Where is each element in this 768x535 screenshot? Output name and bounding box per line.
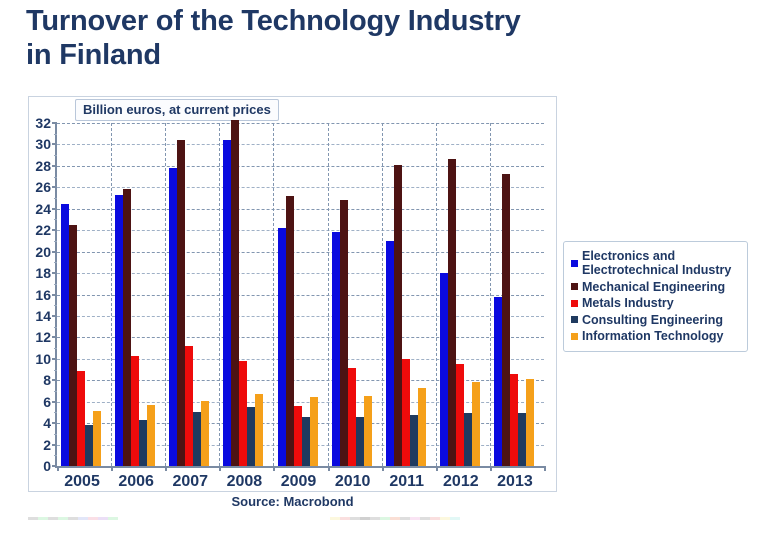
decorative-segment [360,517,370,520]
y-axis-tick-mark [52,229,57,231]
x-axis-tick-mark [382,466,384,471]
decorative-segment [28,517,38,520]
y-axis-tick-label: 32 [35,115,51,131]
legend-item-label: Metals Industry [582,296,674,310]
x-axis-tick-label: 2012 [443,473,479,491]
legend-swatch-icon [571,260,578,267]
x-axis-tick-mark [111,466,113,471]
bar[interactable] [464,413,472,466]
y-axis-minor-tick [54,134,57,135]
bar[interactable] [440,273,448,466]
bar[interactable] [69,225,77,466]
chart-legend: Electronics and Electrotechnical Industr… [563,241,748,352]
bar[interactable] [247,407,255,466]
y-axis-tick-label: 6 [43,394,51,410]
x-axis-tick-label: 2007 [172,473,208,491]
page-title-line-1: Turnover of the Technology Industry [26,4,646,38]
y-axis-tick-label: 26 [35,179,51,195]
y-axis-minor-tick [54,370,57,371]
y-axis-minor-tick [54,434,57,435]
decorative-segment [98,517,108,520]
y-axis-tick-label: 28 [35,158,51,174]
y-axis-tick-mark [52,143,57,145]
bar[interactable] [123,189,131,466]
bar-group [332,123,372,466]
x-axis-tick-mark [273,466,275,471]
y-axis-tick-mark [52,336,57,338]
page-title-line-2: in Finland [26,38,646,72]
bar[interactable] [61,204,69,466]
bar[interactable] [410,415,418,466]
x-axis-tick-label: 2008 [227,473,263,491]
y-axis-tick-mark [52,186,57,188]
y-axis-tick-label: 18 [35,265,51,281]
y-axis-minor-tick [54,198,57,199]
bar-group [386,123,426,466]
bar[interactable] [518,413,526,466]
decorative-segment [400,517,410,520]
decorative-segment [58,517,68,520]
bar[interactable] [239,361,247,466]
legend-swatch-icon [571,316,578,323]
bar[interactable] [356,417,364,466]
x-axis-tick-mark [328,466,330,471]
bar[interactable] [418,388,426,466]
x-axis-tick-label: 2005 [64,473,100,491]
bar[interactable] [169,168,177,466]
y-axis-minor-tick [54,284,57,285]
y-axis-tick-label: 14 [35,308,51,324]
bar[interactable] [310,397,318,466]
y-axis-tick-mark [52,401,57,403]
y-axis-minor-tick [54,391,57,392]
y-axis-minor-tick [54,412,57,413]
bar[interactable] [286,196,294,466]
bar-group [223,123,263,466]
y-axis-minor-tick [54,327,57,328]
bar[interactable] [348,368,356,466]
y-axis-minor-tick [54,262,57,263]
legend-item-label: Consulting Engineering [582,313,723,327]
bar[interactable] [77,371,85,466]
y-axis-tick-mark [52,379,57,381]
bar[interactable] [223,140,231,466]
bar-group [278,123,318,466]
y-axis-tick-mark [52,122,57,124]
bar[interactable] [494,297,502,466]
group-separator [328,123,329,466]
legend-item-label: Mechanical Engineering [582,280,725,294]
y-axis-tick-label: 24 [35,201,51,217]
legend-item[interactable]: Information Technology [571,329,741,343]
legend-item-label: Information Technology [582,329,723,343]
group-separator [436,123,437,466]
y-axis-tick-label: 8 [43,372,51,388]
legend-item[interactable]: Electronics and Electrotechnical Industr… [571,249,741,278]
y-axis-tick-label: 16 [35,287,51,303]
decorative-segment [108,517,118,520]
group-separator [219,123,220,466]
x-axis-tick-label: 2009 [281,473,317,491]
decorative-segment [370,517,380,520]
bar[interactable] [448,159,456,466]
y-axis-minor-tick [54,455,57,456]
y-axis-tick-mark [52,422,57,424]
legend-item[interactable]: Mechanical Engineering [571,280,741,294]
bar[interactable] [193,412,201,466]
group-separator [165,123,166,466]
y-axis-minor-tick [54,348,57,349]
decorative-segment [410,517,420,520]
y-axis-minor-tick [54,305,57,306]
decorative-strip-left [28,517,118,520]
decorative-segment [68,517,78,520]
decorative-segment [38,517,48,520]
legend-label-line-2: Electrotechnical Industry [582,263,731,277]
bar-group [494,123,534,466]
decorative-segment [380,517,390,520]
y-axis-tick-mark [52,272,57,274]
group-separator [382,123,383,466]
plot-area: 02468101214161820222426283032 2005200620… [55,123,544,468]
bar[interactable] [93,411,101,466]
decorative-segment [420,517,430,520]
y-axis-minor-tick [54,155,57,156]
y-axis-tick-mark [52,251,57,253]
x-axis-tick-mark [219,466,221,471]
source-note: Source: Macrobond [28,494,557,509]
bar[interactable] [255,394,263,466]
decorative-segment [440,517,450,520]
bar[interactable] [115,195,123,466]
bar[interactable] [394,165,402,466]
y-axis-minor-tick [54,219,57,220]
chart-frame: Billion euros, at current prices 0246810… [28,96,557,492]
y-axis-tick-label: 2 [43,437,51,453]
legend-swatch-icon [571,333,578,340]
group-separator [273,123,274,466]
bar-group [61,123,101,466]
legend-item-label: Electronics and Electrotechnical Industr… [582,249,731,278]
decorative-strip-right [330,517,460,520]
bar[interactable] [302,417,310,466]
y-axis-tick-mark [52,358,57,360]
bar-group [115,123,155,466]
decorative-segment [88,517,98,520]
y-axis-minor-tick [54,241,57,242]
y-axis-tick-mark [52,294,57,296]
decorative-segment [390,517,400,520]
decorative-segment [450,517,460,520]
x-axis-tick-label: 2006 [118,473,154,491]
bar[interactable] [139,420,147,466]
page-title: Turnover of the Technology Industry in F… [26,4,646,72]
bar[interactable] [386,241,394,466]
bar[interactable] [85,425,93,466]
decorative-segment [330,517,340,520]
bar[interactable] [131,356,139,466]
bar[interactable] [402,359,410,466]
y-axis-tick-label: 30 [35,136,51,152]
bar[interactable] [472,382,480,466]
group-separator [111,123,112,466]
bar-group [440,123,480,466]
decorative-segment [340,517,350,520]
bar[interactable] [364,396,372,466]
y-axis-tick-mark [52,444,57,446]
y-axis-tick-mark [52,208,57,210]
y-axis-tick-mark [52,165,57,167]
bar[interactable] [147,405,155,466]
legend-swatch-icon [571,300,578,307]
bar[interactable] [294,406,302,466]
bar[interactable] [510,374,518,466]
bar[interactable] [231,120,239,466]
x-axis-tick-label: 2013 [497,473,533,491]
bar[interactable] [456,364,464,466]
group-separator [490,123,491,466]
decorative-segment [430,517,440,520]
decorative-segment [350,517,360,520]
x-axis-tick-label: 2010 [335,473,371,491]
bar[interactable] [332,232,340,466]
decorative-segment [78,517,88,520]
x-axis-tick-mark [436,466,438,471]
x-axis-tick-mark [544,466,546,471]
bar[interactable] [340,200,348,466]
legend-item[interactable]: Consulting Engineering [571,313,741,327]
x-axis-tick-mark [165,466,167,471]
legend-swatch-icon [571,283,578,290]
bar[interactable] [201,401,209,466]
y-axis-tick-mark [52,315,57,317]
y-axis-minor-tick [54,177,57,178]
y-axis-tick-label: 22 [35,222,51,238]
x-axis-tick-label: 2011 [389,473,424,491]
bar[interactable] [526,379,534,466]
y-axis-tick-label: 4 [43,415,51,431]
bar-group [169,123,209,466]
decorative-segment [48,517,58,520]
y-axis-tick-label: 20 [35,244,51,260]
y-axis-tick-label: 10 [35,351,51,367]
bar[interactable] [278,228,286,466]
bar[interactable] [502,174,510,466]
bar[interactable] [177,140,185,466]
x-axis-tick-mark [490,466,492,471]
units-caption: Billion euros, at current prices [75,99,279,121]
y-axis-tick-label: 12 [35,329,51,345]
x-axis-tick-mark [57,466,59,471]
legend-label-line-1: Electronics and [582,249,675,263]
y-axis-tick-label: 0 [43,458,51,474]
bar[interactable] [185,346,193,466]
legend-item[interactable]: Metals Industry [571,296,741,310]
